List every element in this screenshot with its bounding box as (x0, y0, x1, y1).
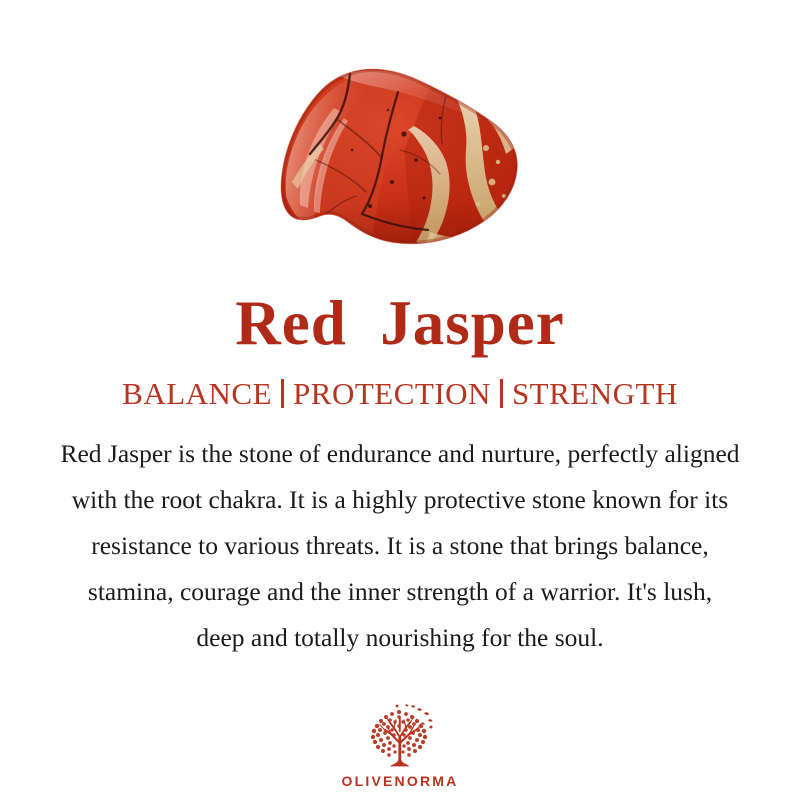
description-line: stamina, courage and the inner strength … (5, 569, 795, 615)
tagline-separator (281, 379, 284, 408)
description-line: with the root chakra. It is a highly pro… (5, 477, 795, 523)
description-line: deep and totally nourishing for the soul… (5, 615, 795, 661)
product-description: Red Jasper is the stone of endurance and… (5, 409, 795, 661)
red-jasper-stone-icon (0, 0, 800, 268)
olivenorma-tree-icon (361, 703, 439, 773)
tagline-separator (500, 379, 503, 408)
attributes-tagline: BALANCEPROTECTIONSTRENGTH (122, 355, 678, 409)
tagline-item-balance: BALANCE (122, 376, 272, 411)
description-line: Red Jasper is the stone of endurance and… (5, 431, 795, 477)
page-title: Red Jasper (235, 268, 564, 355)
brand-wordmark: OLIVENORMA (342, 774, 459, 788)
brand-logo: OLIVENORMA (0, 703, 800, 788)
tagline-item-strength: STRENGTH (512, 376, 678, 411)
product-info-card: Red Jasper BALANCEPROTECTIONSTRENGTH Red… (0, 0, 800, 800)
description-line: resistance to various threats. It is a s… (5, 523, 795, 569)
product-image-area (0, 0, 800, 268)
tagline-item-protection: PROTECTION (293, 376, 491, 411)
